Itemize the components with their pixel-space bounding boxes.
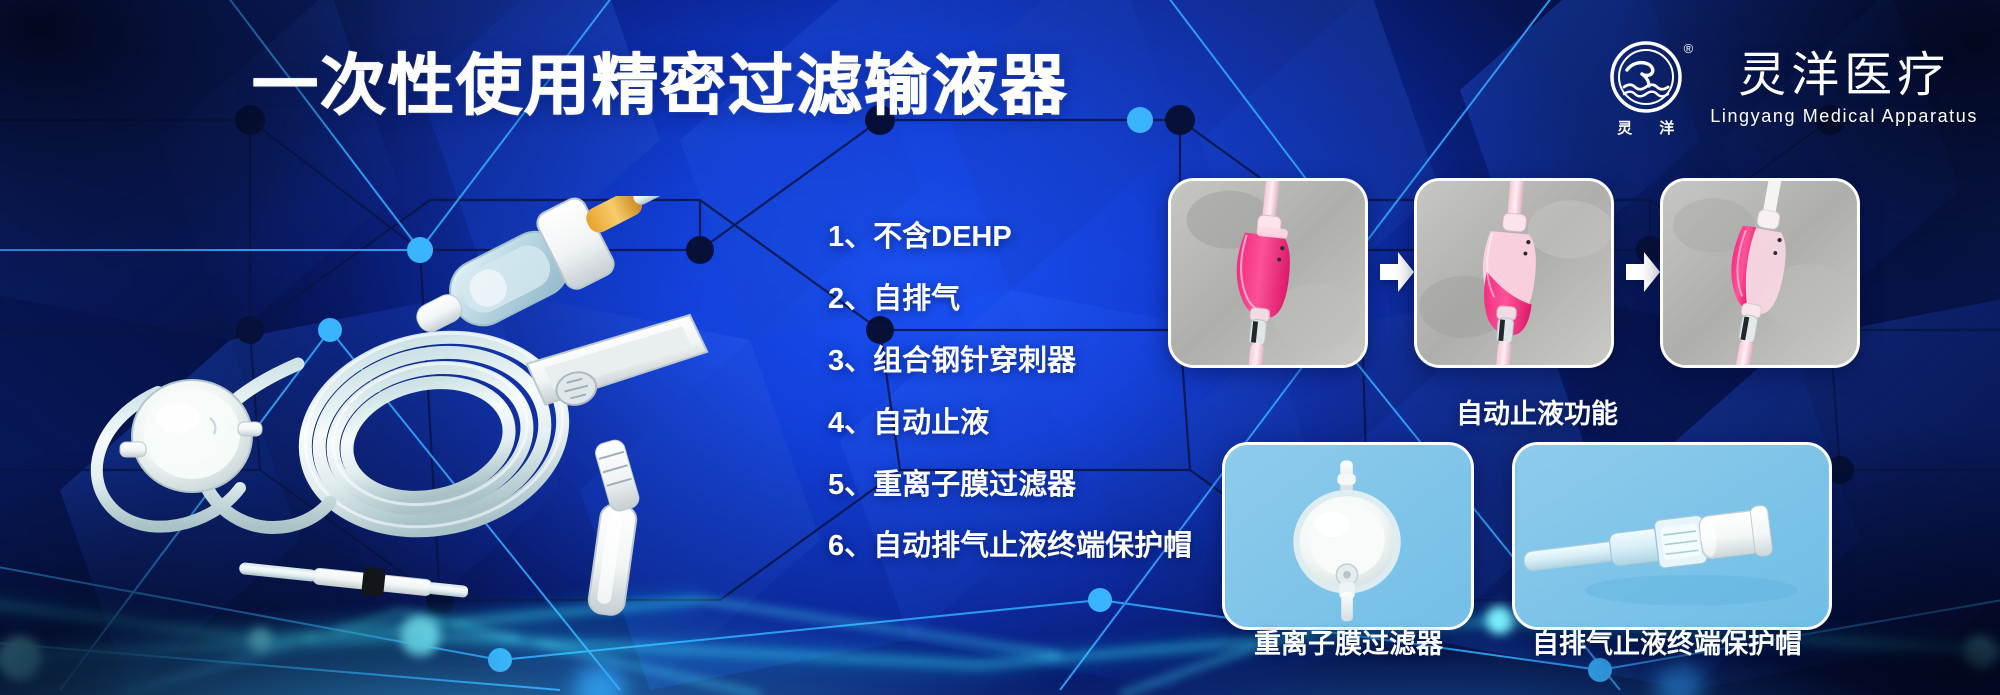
brand-name-group: 灵洋医疗 Lingyang Medical Apparatus	[1710, 51, 1978, 128]
logo-seal-char-left: 灵	[1617, 117, 1633, 138]
demo-row-caption: 自动止液功能	[1456, 392, 1618, 431]
arrow-right-icon	[1378, 250, 1416, 294]
logo-seal-icon: ®	[1609, 40, 1683, 114]
product-photo-panel	[1512, 442, 1832, 630]
feature-item: 4、自动止液	[828, 408, 1192, 440]
registered-trademark-icon: ®	[1684, 42, 1694, 55]
feature-item: 2、自排气	[828, 284, 1192, 316]
feature-item: 6、自动排气止液终端保护帽	[828, 531, 1192, 563]
demo-photo-panel	[1414, 178, 1614, 368]
feature-list: 1、不含DEHP 2、自排气 3、组合钢针穿刺器 4、自动止液 5、重离子膜过滤…	[828, 222, 1192, 563]
feature-item: 5、重离子膜过滤器	[828, 470, 1192, 502]
product-photo-panel	[1222, 442, 1474, 630]
brand-name-cn: 灵洋医疗	[1738, 51, 1950, 102]
brand-name-en: Lingyang Medical Apparatus	[1710, 106, 1978, 127]
product-caption: 重离子膜过滤器	[1254, 622, 1443, 661]
arrow-right-icon	[1624, 250, 1662, 294]
brand-logo: ® 灵 洋 灵洋医疗 Lingyang Medical Apparatus	[1600, 40, 1978, 138]
product-hero-image	[62, 196, 762, 616]
logo-seal-char-right: 洋	[1659, 117, 1675, 138]
product-banner: 一次性使用精密过滤输液器 ® 灵 洋 灵洋医疗 Lingya	[0, 0, 2000, 695]
demo-photo-panel	[1660, 178, 1860, 368]
feature-item: 1、不含DEHP	[828, 222, 1192, 254]
product-caption: 自排气止液终端保护帽	[1532, 622, 1802, 661]
feature-item: 3、组合钢针穿刺器	[828, 346, 1192, 378]
logo-seal-caption: 灵 洋	[1617, 117, 1675, 138]
page-title: 一次性使用精密过滤输液器	[252, 52, 1068, 118]
demo-photo-panel	[1168, 178, 1368, 368]
logo-seal-group: ® 灵 洋	[1600, 40, 1692, 138]
